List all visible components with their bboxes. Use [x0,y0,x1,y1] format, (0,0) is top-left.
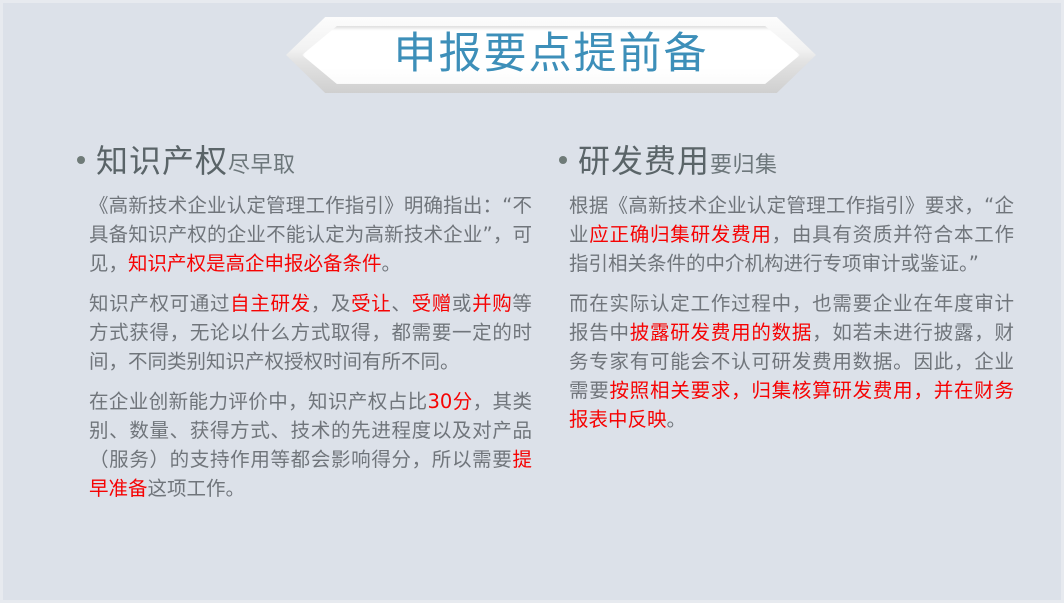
paragraph: 知识产权可通过自主研发，及受让、受赠或并购等方式获得，无论以什么方式取得，都需要… [77,289,532,376]
heading-main-text: 研发费用 [578,145,710,177]
highlighted-text: 按照相关要求，归集核算研发费用，并在财务报表中反映 [569,379,1014,431]
column-heading-left: 知识产权 尽早取 [77,145,532,177]
highlighted-text: 并购 [472,292,512,315]
page-title: 申报要点提前备 [286,17,816,93]
bullet-dot-icon [559,156,567,164]
body-text: 这项工作。 [148,477,246,500]
column-heading-right: 研发费用 要归集 [559,145,1014,177]
highlighted-text: 知识产权是高企申报必备条件 [128,252,382,275]
title-banner: 申报要点提前备 [286,17,816,93]
body-text: 在企业创新能力评价中，知识产权占比 [89,390,428,413]
body-text: 或 [452,292,472,315]
paragraph: 根据《高新技术企业认定管理工作指引》要求，“企业应正确归集研发费用，由具有资质并… [559,191,1014,278]
slide-canvas: 申报要点提前备 知识产权 尽早取 《高新技术企业认定管理工作指引》明确指出：“不… [0,0,1064,603]
highlighted-text: 披露研发费用的数据 [630,321,812,344]
highlighted-text: 受让 [351,292,391,315]
body-text: 知识产权可通过 [89,292,230,315]
paragraph: 《高新技术企业认定管理工作指引》明确指出：“不具备知识产权的企业不能认定为高新技… [77,191,532,278]
highlighted-text: 30分 [428,390,473,413]
highlighted-text: 自主研发 [230,292,311,315]
highlighted-text: 应正确归集研发费用 [589,223,771,246]
body-text: 、 [391,292,411,315]
body-text: 。 [667,408,687,431]
bullet-dot-icon [77,156,85,164]
body-text: 。 [382,252,402,275]
paragraph: 而在实际认定工作过程中，也需要企业在年度审计报告中披露研发费用的数据，如若未进行… [559,289,1014,434]
heading-sub-text: 尽早取 [228,155,296,177]
heading-sub-text: 要归集 [710,155,778,177]
content-column-left: 知识产权 尽早取 《高新技术企业认定管理工作指引》明确指出：“不具备知识产权的企… [77,145,532,514]
heading-main-text: 知识产权 [96,145,228,177]
highlighted-text: 受赠 [412,292,452,315]
paragraph: 在企业创新能力评价中，知识产权占比30分，其类别、数量、获得方式、技术的先进程度… [77,387,532,503]
body-text: ，及 [311,292,351,315]
content-column-right: 研发费用 要归集 根据《高新技术企业认定管理工作指引》要求，“企业应正确归集研发… [559,145,1014,445]
